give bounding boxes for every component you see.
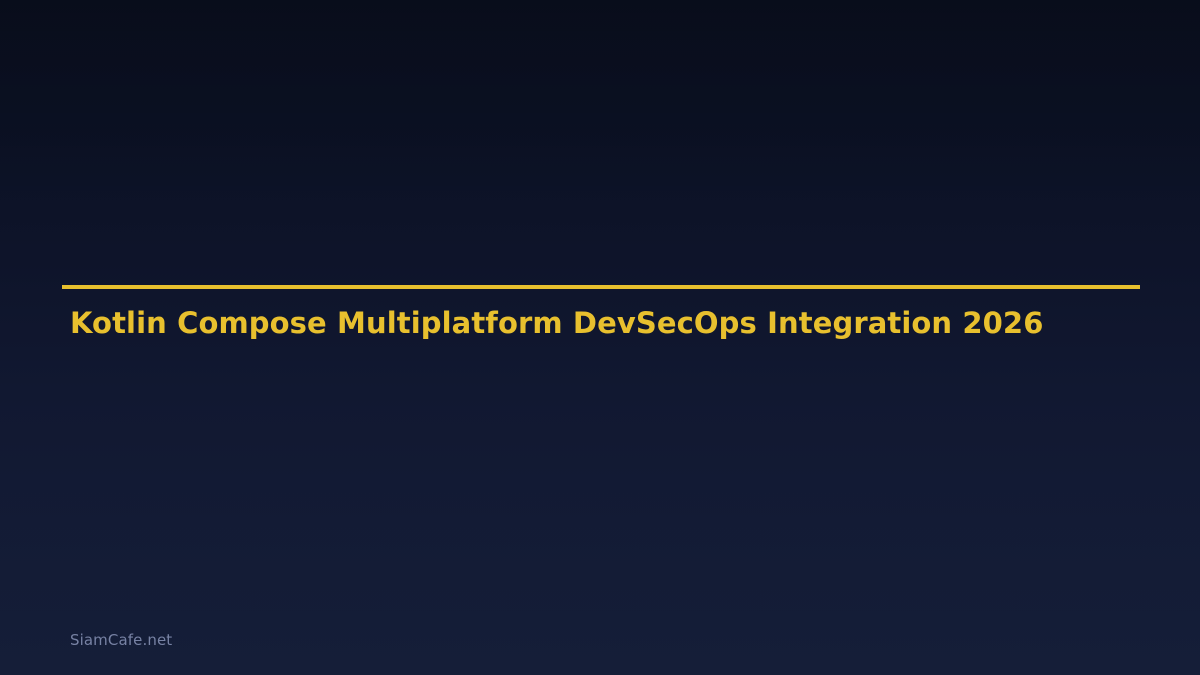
slide-canvas: Kotlin Compose Multiplatform DevSecOps I… [0, 0, 1200, 675]
title-accent-rule [62, 285, 1140, 289]
slide-title: Kotlin Compose Multiplatform DevSecOps I… [70, 303, 1150, 343]
footer-brand-label: SiamCafe.net [70, 630, 172, 650]
